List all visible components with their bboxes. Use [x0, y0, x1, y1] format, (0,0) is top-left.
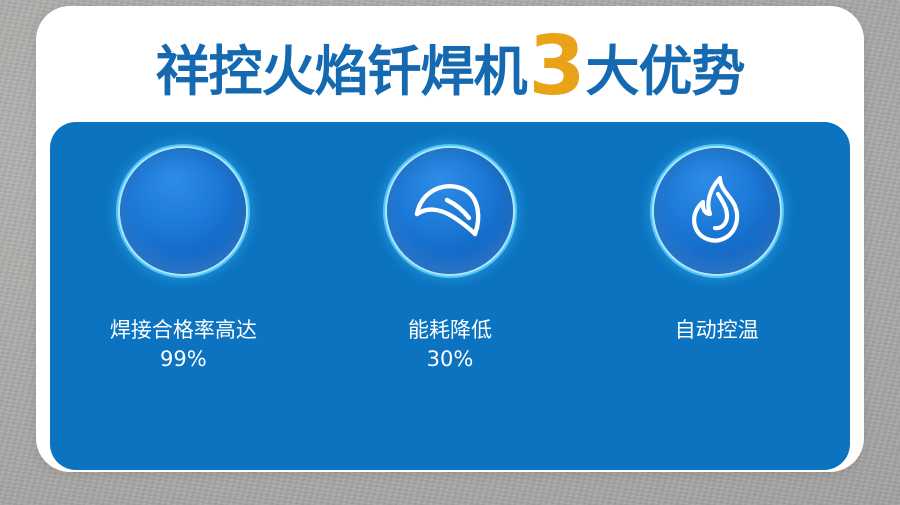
title-band: 祥控火焰钎焊机3大优势: [36, 6, 864, 122]
leaf-icon: [413, 178, 487, 244]
title-suffix-text: 大优势: [586, 45, 745, 99]
feature-caption: 焊接合格率高达 99%: [110, 316, 257, 374]
features-row: 焊接合格率高达 99% 能耗降低 30%: [50, 122, 850, 470]
title-number-text: 3: [528, 34, 584, 100]
feature-badge[interactable]: [654, 148, 780, 274]
feature-item[interactable]: 自动控温: [607, 148, 827, 345]
feature-caption: 能耗降低 30%: [408, 316, 492, 374]
feature-caption: 自动控温: [675, 316, 759, 345]
white-card: 祥控火焰钎焊机3大优势 焊接合格率高达 99%: [36, 6, 864, 472]
poster-backdrop: 祥控火焰钎焊机3大优势 焊接合格率高达 99%: [0, 0, 900, 505]
flame-icon: [687, 174, 747, 248]
feature-item[interactable]: 能耗降低 30%: [340, 148, 560, 374]
feature-badge[interactable]: [387, 148, 513, 274]
feature-badge[interactable]: [120, 148, 246, 274]
feature-item[interactable]: 焊接合格率高达 99%: [73, 148, 293, 374]
title-prefix-text: 祥控火焰钎焊机: [155, 45, 526, 99]
page-title: 祥控火焰钎焊机3大优势: [155, 30, 744, 99]
blue-panel: 焊接合格率高达 99% 能耗降低 30%: [50, 122, 850, 470]
